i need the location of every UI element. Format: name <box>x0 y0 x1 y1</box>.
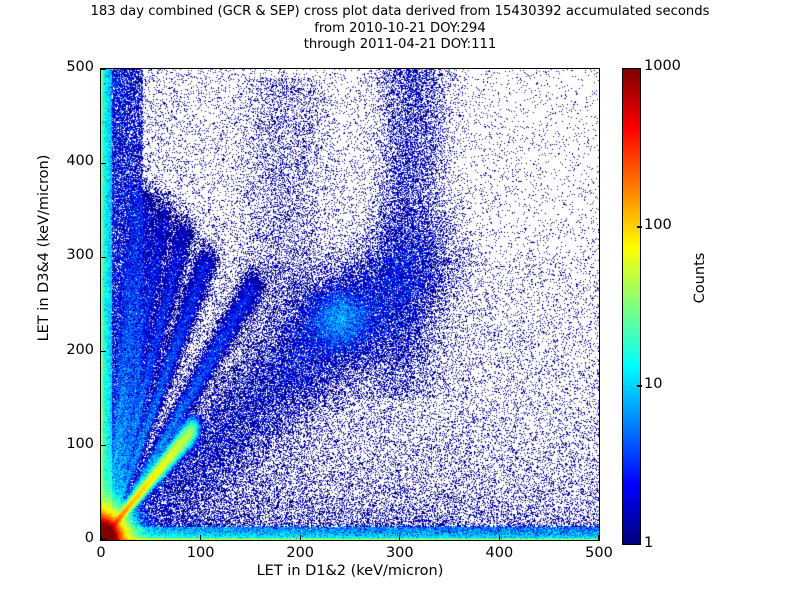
x-tick-mark <box>499 535 500 540</box>
colorbar-tick-label: 100 <box>644 217 672 233</box>
y-tick-mark <box>101 68 106 69</box>
colorbar <box>622 68 641 545</box>
x-tick-mark <box>598 535 599 540</box>
x-tick-mark <box>399 535 400 540</box>
colorbar-label: Counts <box>692 198 708 358</box>
x-tick-mark <box>300 535 301 540</box>
title-line-2: from 2010-10-21 DOY:294 <box>0 21 800 38</box>
y-axis-label: LET in D3&4 (keV/micron) <box>36 98 52 398</box>
y-tick-label: 500 <box>38 59 94 75</box>
x-tick-label: 500 <box>569 545 629 561</box>
title-line-1: 183 day combined (GCR & SEP) cross plot … <box>0 4 800 21</box>
y-tick-mark <box>101 257 106 258</box>
colorbar-tick-mark <box>637 226 642 227</box>
x-tick-label: 400 <box>469 545 529 561</box>
plot-area <box>100 68 600 541</box>
y-tick-label: 100 <box>38 436 94 452</box>
y-tick-mark <box>101 445 106 446</box>
x-tick-label: 100 <box>171 545 231 561</box>
y-tick-mark <box>101 163 106 164</box>
colorbar-tick-mark <box>637 385 642 386</box>
x-tick-label: 200 <box>270 545 330 561</box>
x-tick-label: 0 <box>71 545 131 561</box>
figure-title: 183 day combined (GCR & SEP) cross plot … <box>0 4 800 54</box>
y-tick-label: 0 <box>38 530 94 546</box>
colorbar-tick-label: 1 <box>644 535 653 551</box>
colorbar-tick-label: 10 <box>644 376 662 392</box>
x-tick-label: 300 <box>370 545 430 561</box>
colorbar-gradient <box>623 69 640 544</box>
x-tick-mark <box>200 535 201 540</box>
y-tick-mark <box>101 539 106 540</box>
title-line-3: through 2011-04-21 DOY:111 <box>0 37 800 54</box>
x-axis-label: LET in D1&2 (keV/micron) <box>100 563 600 579</box>
figure-root: 183 day combined (GCR & SEP) cross plot … <box>0 0 800 600</box>
scatter-density-canvas <box>101 69 599 540</box>
colorbar-tick-label: 1000 <box>644 58 681 74</box>
y-tick-mark <box>101 351 106 352</box>
